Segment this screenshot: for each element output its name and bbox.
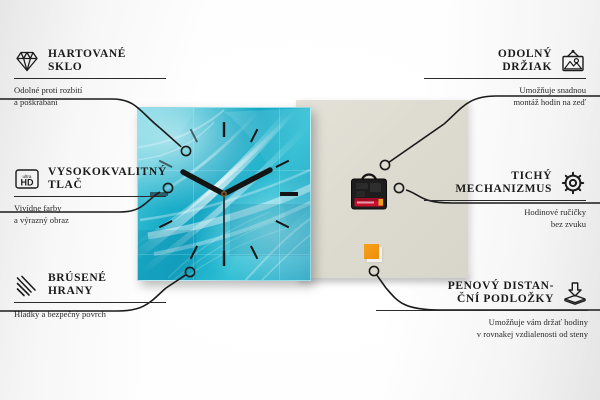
ground-edges-icon <box>14 273 40 297</box>
foam-spacer-icon <box>562 281 588 305</box>
feature-header: ODOLNÝ DRŽIAK <box>424 48 586 74</box>
picture-hanger-icon <box>560 49 586 73</box>
hour-hand <box>183 172 224 194</box>
divider <box>14 78 166 79</box>
feature-desc-line: Vivídne farby <box>14 202 166 214</box>
foam-spacer-pad <box>364 244 379 259</box>
divider <box>424 200 586 201</box>
feature-title: TICHÝ MECHANIZMUS <box>455 170 552 196</box>
feature-header: ultra HD VYSOKOKVALITNÝ TLAČ <box>14 166 166 192</box>
feature-desc-line: bez zvuku <box>424 218 586 230</box>
feature-desc-line: Odolné proti rozbití <box>14 84 166 96</box>
feature-foam-spacers: PENOVÝ DISTAN- ČNÍ PODLOŽKY Umožňuje vám… <box>376 280 588 341</box>
feature-desc-line: Umožňuje vám držať hodiny <box>376 316 588 328</box>
feature-header: HARTOVANÉ SKLO <box>14 48 166 74</box>
minute-hand <box>224 170 270 194</box>
svg-text:HD: HD <box>21 177 34 187</box>
gear-icon <box>560 171 586 195</box>
ultra-hd-badge-icon: ultra HD <box>14 167 40 191</box>
feature-title: BRÚSENÉ HRANY <box>48 272 107 298</box>
divider <box>14 196 166 197</box>
feature-desc-line: Umožňuje snadnou <box>424 84 586 96</box>
feature-silent-mechanism: TICHÝ MECHANIZMUS <box>424 170 586 231</box>
feature-desc-line: Hladký a bezpečný povrch <box>14 308 166 320</box>
feature-durable-hanger: ODOLNÝ DRŽIAK Umožňuje snadnou montáž ho… <box>424 48 586 109</box>
clock-mechanism <box>348 172 390 212</box>
feature-desc-line: a výrazný obraz <box>14 214 166 226</box>
infographic-canvas: HARTOVANÉ SKLO Odolné proti rozbití a po… <box>0 0 600 400</box>
feature-desc-line: v rovnakej vzdialenosti od steny <box>376 328 588 340</box>
feature-hq-print: ultra HD VYSOKOKVALITNÝ TLAČ Vivídne far… <box>14 166 166 227</box>
feature-desc-line: montáž hodin na zeď <box>424 96 586 108</box>
feature-header: BRÚSENÉ HRANY <box>14 272 166 298</box>
feature-title: VYSOKOKVALITNÝ TLAČ <box>48 166 167 192</box>
feature-ground-edges: BRÚSENÉ HRANY Hladký a bezpečný povrch <box>14 272 166 320</box>
feature-header: TICHÝ MECHANIZMUS <box>424 170 586 196</box>
divider <box>424 78 586 79</box>
divider <box>14 302 166 303</box>
diamond-icon <box>14 49 40 73</box>
feature-desc-line: Hodinové ručičky <box>424 206 586 218</box>
feature-desc-line: a poškrábání <box>14 96 166 108</box>
feature-tempered-glass: HARTOVANÉ SKLO Odolné proti rozbití a po… <box>14 48 166 109</box>
divider <box>376 310 588 311</box>
feature-title: ODOLNÝ DRŽIAK <box>498 48 552 74</box>
feature-header: PENOVÝ DISTAN- ČNÍ PODLOŽKY <box>376 280 588 306</box>
feature-title: HARTOVANÉ SKLO <box>48 48 126 74</box>
feature-title: PENOVÝ DISTAN- ČNÍ PODLOŽKY <box>448 280 554 306</box>
